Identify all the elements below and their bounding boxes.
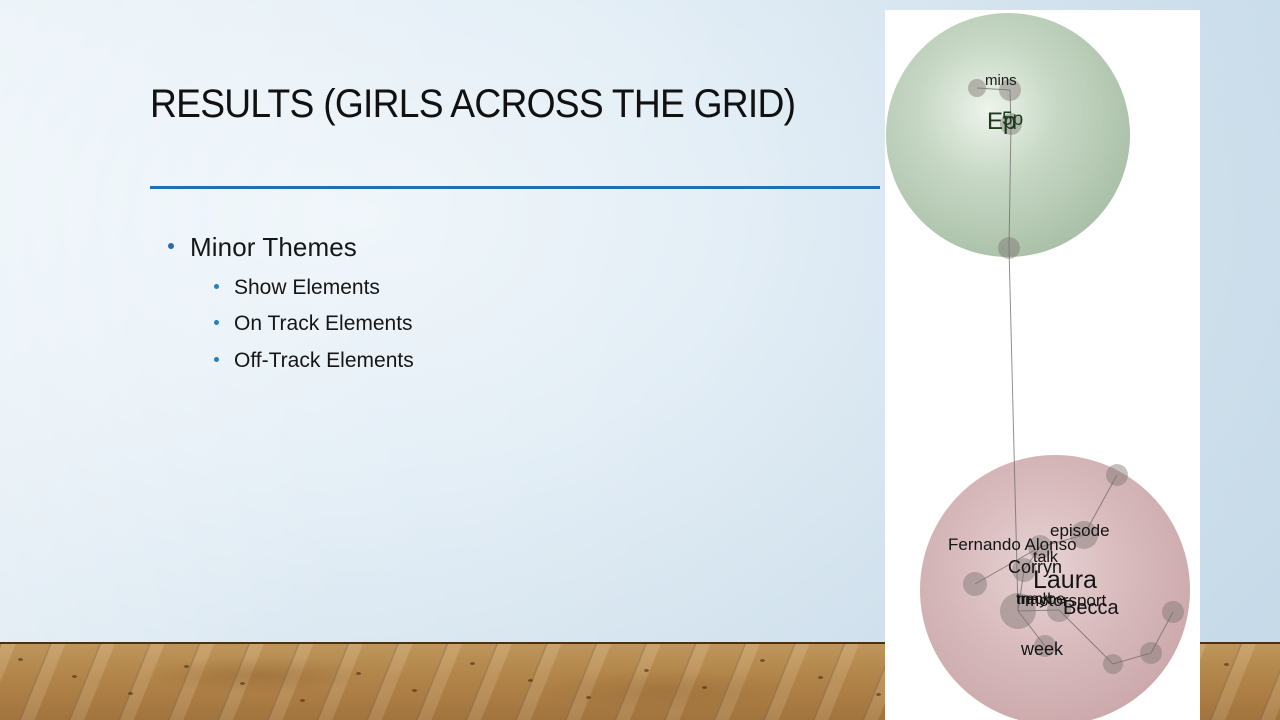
bullet-level2-show-elements: Show Elements — [208, 275, 800, 301]
graph-node[interactable] — [968, 79, 986, 97]
wood-knot-mark — [760, 659, 765, 662]
wood-knot-mark — [586, 696, 591, 699]
bullet-dot-icon — [214, 357, 219, 362]
wood-knot-mark — [300, 699, 305, 702]
wood-knot-mark — [184, 665, 189, 668]
network-graph-panel: minsEp5pepisodeFernando AlonsotalkCorryn… — [885, 10, 1200, 720]
graph-label-mins: mins — [985, 73, 1017, 88]
bullet-dot-icon — [214, 284, 219, 289]
wood-knot-mark — [702, 686, 707, 689]
wood-knot-mark — [876, 693, 881, 696]
wood-knot-mark — [72, 675, 77, 678]
wood-knot-mark — [1224, 663, 1229, 666]
graph-label-week: week — [1021, 640, 1063, 658]
graph-label-5p: 5p — [1002, 110, 1023, 129]
graph-node[interactable] — [1103, 654, 1123, 674]
bullet-sublist: Show Elements On Track Elements Off-Trac… — [208, 275, 800, 374]
wood-knot-mark — [528, 679, 533, 682]
bullet-level1-minor-themes: Minor Themes — [160, 232, 800, 263]
wood-knot-mark — [470, 662, 475, 665]
wood-knot-mark — [412, 689, 417, 692]
bullet-dot-icon — [214, 320, 219, 325]
wood-knot-mark — [356, 672, 361, 675]
graph-label-laura: Laura — [1033, 568, 1097, 593]
graph-node[interactable] — [1162, 601, 1184, 623]
graph-label-becca: Becca — [1063, 598, 1119, 618]
cluster-bubbles — [886, 13, 1190, 720]
wood-knot-mark — [240, 682, 245, 685]
bullet-level2-on-track-elements: On Track Elements — [208, 311, 800, 337]
bullet-label: Show Elements — [234, 276, 380, 299]
bullet-label: On Track Elements — [234, 312, 413, 335]
graph-node[interactable] — [1106, 464, 1128, 486]
wood-knot-mark — [18, 658, 23, 661]
bullet-label: Minor Themes — [190, 232, 357, 262]
slide-canvas: RESULTS (GIRLS ACROSS THE GRID) Minor Th… — [0, 0, 1280, 720]
graph-node[interactable] — [998, 237, 1020, 259]
wood-knot-mark — [818, 676, 823, 679]
cluster-bubble-green-cluster — [886, 13, 1130, 257]
title-underline-rule — [150, 186, 880, 189]
bullet-list: Minor Themes Show Elements On Track Elem… — [160, 232, 800, 384]
bullet-label: Off-Track Elements — [234, 349, 414, 372]
wood-knot-mark — [128, 692, 133, 695]
wood-knot-mark — [644, 669, 649, 672]
bullet-dot-icon — [168, 243, 174, 249]
page-title: RESULTS (GIRLS ACROSS THE GRID) — [150, 82, 801, 127]
graph-node[interactable] — [963, 572, 987, 596]
network-graph-svg — [885, 10, 1200, 720]
bullet-level2-off-track-elements: Off-Track Elements — [208, 348, 800, 374]
graph-node[interactable] — [1140, 642, 1162, 664]
